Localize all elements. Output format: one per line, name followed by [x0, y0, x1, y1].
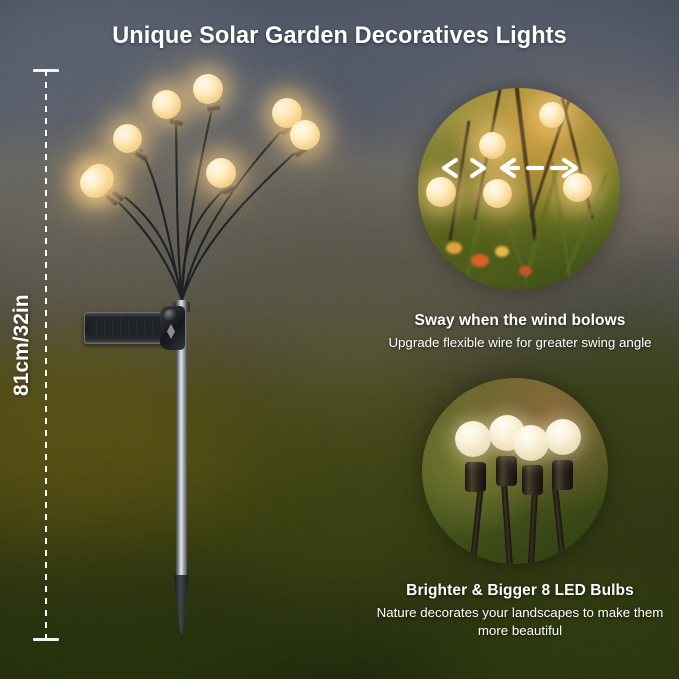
feature-image-sway — [418, 88, 620, 290]
bulb-closeup-photo — [422, 378, 608, 564]
dashed-double-arrow-icon — [502, 160, 576, 176]
caption-subtext: Upgrade flexible wire for greater swing … — [370, 334, 670, 352]
product-image — [0, 0, 380, 679]
led-bulb — [80, 168, 110, 198]
led-bulb — [455, 421, 491, 457]
bulb-stem — [501, 482, 513, 564]
solar-cell-grid — [89, 317, 167, 338]
caption-bulbs: Brighter & Bigger 8 LED Bulbs Nature dec… — [370, 582, 670, 639]
caption-subtext: Nature decorates your landscapes to make… — [370, 604, 670, 639]
caption-sway: Sway when the wind bolows Upgrade flexib… — [370, 312, 670, 352]
caption-heading: Brighter & Bigger 8 LED Bulbs — [370, 582, 670, 600]
bulb-socket — [552, 460, 573, 490]
infographic-canvas: Unique Solar Garden Decoratives Lights 8… — [0, 0, 679, 679]
bulb-socket — [522, 465, 543, 495]
clamp-knob-icon — [164, 309, 177, 322]
led-bulb — [193, 74, 223, 104]
bulb-stem — [528, 486, 538, 564]
sway-arrows-overlay — [418, 88, 620, 290]
product-stems — [0, 0, 380, 679]
led-bulb — [290, 120, 320, 150]
led-bulb — [113, 124, 142, 153]
double-arrow-icon — [444, 160, 484, 176]
led-bulb — [545, 419, 581, 455]
led-bulb — [206, 158, 236, 188]
bulb-socket — [496, 456, 517, 486]
led-bulb — [513, 425, 549, 461]
solar-panel — [84, 312, 172, 344]
feature-image-bulbs — [422, 378, 608, 564]
caption-heading: Sway when the wind bolows — [370, 312, 670, 330]
bulb-socket — [465, 462, 486, 492]
led-bulb — [152, 90, 181, 119]
bulb-stem — [551, 482, 566, 564]
